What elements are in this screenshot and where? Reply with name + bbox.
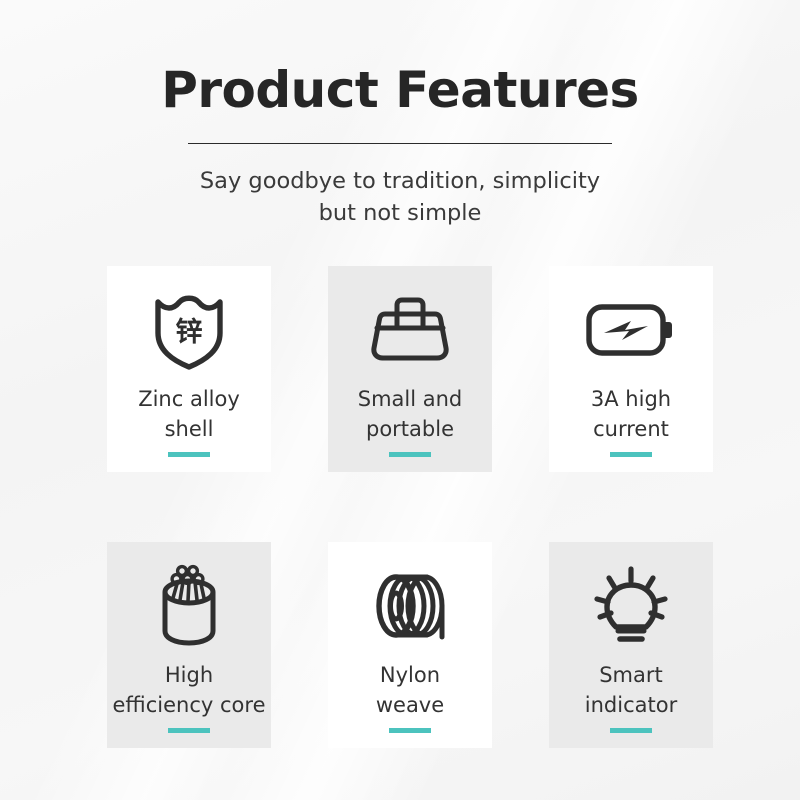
page-header: Product Features Say goodbye to traditio… xyxy=(0,0,800,230)
feature-card-label: High efficiency core xyxy=(113,660,266,721)
feature-card-label: Small and portable xyxy=(358,384,463,445)
accent-underline xyxy=(610,452,652,457)
shield-icon-character: 锌 xyxy=(176,317,203,348)
feature-card-label: Zinc alloy shell xyxy=(138,384,240,445)
accent-underline xyxy=(610,728,652,733)
feature-card-label: Smart indicator xyxy=(585,660,677,721)
feature-label-line-1: Nylon xyxy=(380,663,440,687)
product-features-page: Product Features Say goodbye to traditio… xyxy=(0,0,800,800)
lightbulb-icon xyxy=(588,560,674,652)
feature-card-small-and-portable[interactable]: Small and portable xyxy=(328,266,492,472)
feature-label-line-1: High xyxy=(165,663,213,687)
feature-card-zinc-alloy-shell[interactable]: 锌 Zinc alloy shell xyxy=(107,266,271,472)
accent-underline xyxy=(389,452,431,457)
feature-label-line-1: Zinc alloy xyxy=(138,387,240,411)
feature-label-line-1: 3A high xyxy=(591,387,671,411)
feature-label-line-1: Smart xyxy=(599,663,663,687)
accent-underline xyxy=(168,452,210,457)
cable-core-icon xyxy=(152,560,226,652)
battery-bolt-icon xyxy=(584,284,678,376)
feature-label-line-2: indicator xyxy=(585,693,677,717)
subtitle-line-2: but not simple xyxy=(319,200,482,226)
feature-card-nylon-weave[interactable]: Nylon weave xyxy=(328,542,492,748)
feature-row-1: 锌 Zinc alloy shell Small and xyxy=(107,266,713,472)
handbag-icon xyxy=(367,284,453,376)
feature-label-line-2: shell xyxy=(165,417,214,441)
feature-label-line-2: current xyxy=(593,417,669,441)
feature-row-2: High efficiency core xyxy=(107,542,713,748)
feature-label-line-2: efficiency core xyxy=(113,693,266,717)
accent-underline xyxy=(168,728,210,733)
feature-label-line-2: weave xyxy=(376,693,444,717)
feature-card-smart-indicator[interactable]: Smart indicator xyxy=(549,542,713,748)
shield-zinc-icon: 锌 xyxy=(152,284,226,376)
feature-card-high-efficiency-core[interactable]: High efficiency core xyxy=(107,542,271,748)
feature-label-line-1: Small and xyxy=(358,387,463,411)
page-subtitle: Say goodbye to tradition, simplicity but… xyxy=(0,144,800,230)
feature-card-label: Nylon weave xyxy=(376,660,444,721)
feature-card-label: 3A high current xyxy=(591,384,671,445)
feature-card-3a-high-current[interactable]: 3A high current xyxy=(549,266,713,472)
feature-label-line-2: portable xyxy=(366,417,454,441)
accent-underline xyxy=(389,728,431,733)
subtitle-line-1: Say goodbye to tradition, simplicity xyxy=(200,168,600,194)
cable-coil-icon xyxy=(365,560,455,652)
page-title: Product Features xyxy=(0,0,800,118)
